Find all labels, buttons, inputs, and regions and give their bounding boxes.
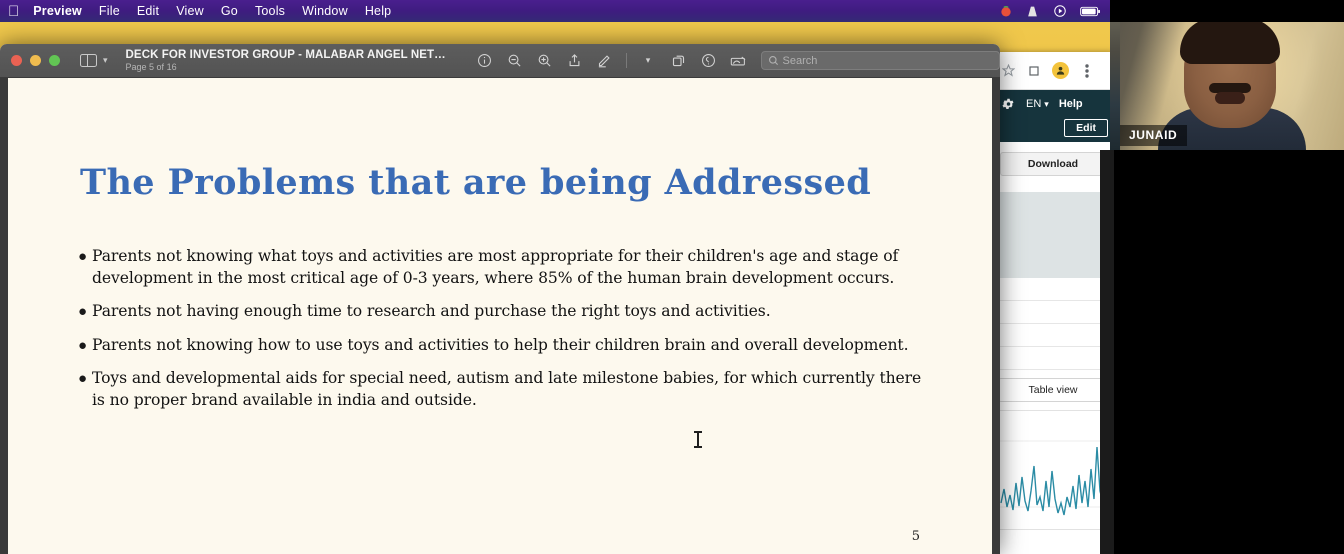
- search-placeholder: Search: [783, 55, 818, 67]
- participant-mouth: [1215, 92, 1245, 104]
- menu-item-window[interactable]: Window: [302, 4, 348, 18]
- download-button[interactable]: Download: [1000, 152, 1106, 176]
- language-selector[interactable]: EN ▾: [1026, 98, 1049, 110]
- preview-titlebar: ▾ DECK FOR INVESTOR GROUP - MALABAR ANGE…: [0, 44, 1000, 78]
- page-subtitle: Page 5 of 16: [126, 62, 456, 72]
- menu-item-go[interactable]: Go: [221, 4, 238, 18]
- video-black-area: [1110, 150, 1344, 554]
- chevron-down-icon: ▾: [1044, 99, 1049, 110]
- rotate-icon[interactable]: [670, 52, 687, 69]
- bullet-marker: ●: [78, 335, 92, 357]
- content-placeholder-block: [992, 192, 1114, 278]
- chrome-browser-window[interactable]: EN ▾ Help Edit Download Table view: [992, 52, 1114, 554]
- page-number: 5: [912, 529, 920, 544]
- bullet-marker: ●: [78, 301, 92, 323]
- bullet-text: Parents not knowing what toys and activi…: [92, 246, 930, 289]
- chevron-down-icon[interactable]: ▾: [103, 55, 108, 66]
- participant-name-label: JUNAID: [1120, 125, 1187, 146]
- battery-icon[interactable]: [1079, 4, 1101, 19]
- list-item: ● Parents not knowing how to use toys an…: [78, 335, 930, 357]
- zoom-in-icon[interactable]: [536, 52, 553, 69]
- pdf-page[interactable]: The Problems that are being Addressed ● …: [8, 78, 992, 554]
- divider: [992, 369, 1114, 370]
- menu-item-edit[interactable]: Edit: [137, 4, 159, 18]
- screen-root: EN ▾ Help Edit Download Table view: [0, 0, 1344, 554]
- minimize-button[interactable]: [30, 55, 41, 66]
- bullet-marker: ●: [78, 246, 92, 289]
- list-item: ● Parents not knowing what toys and acti…: [78, 246, 930, 289]
- menu-item-view[interactable]: View: [176, 4, 204, 18]
- document-title-block: DECK FOR INVESTOR GROUP - MALABAR ANGEL …: [126, 49, 456, 72]
- chrome-toolbar: [992, 52, 1114, 90]
- download-panel: Download: [992, 142, 1114, 186]
- toolbar-divider: [626, 53, 627, 68]
- screen-edge-shadow: [1100, 150, 1114, 554]
- menu-item-tools[interactable]: Tools: [255, 4, 285, 18]
- vlc-cone-icon[interactable]: [1025, 4, 1040, 19]
- window-controls: [11, 55, 60, 66]
- bullet-marker: ●: [78, 368, 92, 411]
- menu-item-help[interactable]: Help: [365, 4, 392, 18]
- webcam-video-tile[interactable]: JUNAID: [1110, 0, 1344, 150]
- markup-pen-icon[interactable]: [596, 52, 613, 69]
- zoom-out-icon[interactable]: [506, 52, 523, 69]
- redact-icon[interactable]: [700, 52, 717, 69]
- line-chart: [999, 411, 1108, 530]
- gear-icon[interactable]: [1000, 96, 1016, 112]
- web-app-header: EN ▾ Help Edit: [992, 90, 1114, 142]
- webcam-left-strip: [1110, 0, 1120, 150]
- page-title: DECK FOR INVESTOR GROUP - MALABAR ANGEL …: [126, 49, 456, 61]
- text-cursor: [697, 431, 699, 448]
- info-icon[interactable]: [476, 52, 493, 69]
- play-circle-icon[interactable]: [1052, 4, 1067, 19]
- sidebar-glyph: [80, 54, 97, 67]
- participant-hair: [1180, 18, 1280, 64]
- sidebar-toggle-icon[interactable]: ▾: [80, 54, 108, 67]
- language-label: EN: [1026, 98, 1041, 110]
- content-rows: [992, 300, 1114, 370]
- list-item: ● Parents not having enough time to rese…: [78, 301, 930, 323]
- tomato-timer-icon[interactable]: [998, 4, 1013, 19]
- pdf-viewport[interactable]: The Problems that are being Addressed ● …: [0, 78, 1000, 554]
- menu-item-file[interactable]: File: [99, 4, 120, 18]
- slide-bullet-list: ● Parents not knowing what toys and acti…: [78, 246, 930, 422]
- extensions-icon[interactable]: [1026, 63, 1042, 79]
- sign-icon[interactable]: [730, 52, 747, 69]
- close-button[interactable]: [11, 55, 22, 66]
- share-icon[interactable]: [566, 52, 583, 69]
- slide-title: The Problems that are being Addressed: [80, 162, 871, 203]
- apple-logo-icon[interactable]: : [8, 4, 19, 19]
- bullet-text: Parents not knowing how to use toys and …: [92, 335, 908, 357]
- preview-toolbar: ▾: [476, 52, 747, 69]
- chevron-down-icon[interactable]: ▾: [640, 52, 657, 69]
- divider: [992, 346, 1114, 347]
- menu-item-preview[interactable]: Preview: [33, 4, 82, 18]
- profile-avatar-icon[interactable]: [1052, 62, 1069, 79]
- zoom-button[interactable]: [49, 55, 60, 66]
- webcam-letterbox-top: [1110, 0, 1344, 22]
- web-app-header-row: EN ▾ Help: [992, 90, 1114, 118]
- search-input[interactable]: Search: [761, 51, 1000, 70]
- chrome-menu-icon[interactable]: [1079, 63, 1095, 79]
- bullet-text: Toys and developmental aids for special …: [92, 368, 930, 411]
- divider: [992, 323, 1114, 324]
- bookmark-star-icon[interactable]: [1000, 63, 1016, 79]
- divider: [992, 300, 1114, 301]
- line-chart-card[interactable]: [998, 410, 1108, 530]
- help-link[interactable]: Help: [1059, 98, 1083, 110]
- table-view-button[interactable]: Table view: [998, 378, 1108, 402]
- preview-app-window[interactable]: ▾ DECK FOR INVESTOR GROUP - MALABAR ANGE…: [0, 44, 1000, 554]
- list-item: ● Toys and developmental aids for specia…: [78, 368, 930, 411]
- edit-button[interactable]: Edit: [1064, 119, 1108, 137]
- bullet-text: Parents not having enough time to resear…: [92, 301, 771, 323]
